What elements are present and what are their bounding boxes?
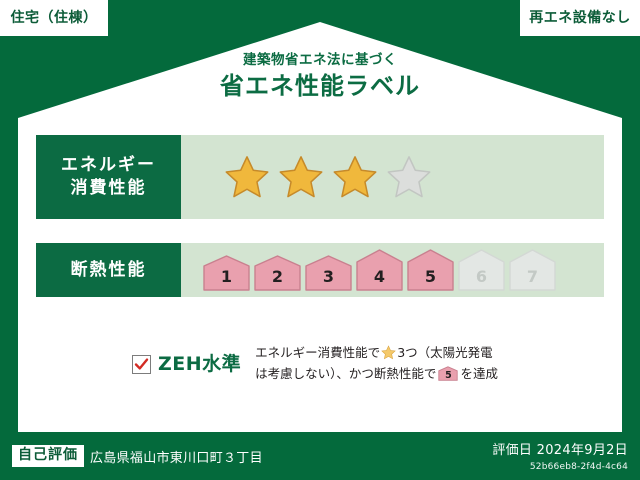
label-id: 52b66eb8-2f4d-4c64 <box>492 462 628 473</box>
insulation-label-text: 断熱性能 <box>71 259 147 282</box>
insulation-grade-number: 6 <box>458 269 505 285</box>
title-subtitle: 建築物省エネ法に基づく <box>0 52 640 68</box>
insulation-performance-value: 1234567 <box>181 243 604 297</box>
zeh-desc-line1a: エネルギー消費性能で <box>255 345 380 360</box>
building-type-tag: 住宅（住棟） <box>0 0 108 36</box>
insulation-grade-badge: 6 <box>458 249 505 291</box>
insulation-grade-number: 1 <box>203 269 250 285</box>
insulation-performance-label: 断熱性能 <box>36 243 181 297</box>
energy-performance-label: 住宅（住棟） 再エネ設備なし 建築物省エネ法に基づく 省エネ性能ラベル エネルギ… <box>0 0 640 480</box>
zeh-checkbox[interactable] <box>132 355 151 374</box>
insulation-grade-number: 3 <box>305 269 352 285</box>
self-evaluation-badge: 自己評価 <box>12 445 84 466</box>
renewable-equipment-tag-label: 再エネ設備なし <box>529 11 631 25</box>
inline-star-icon <box>381 345 396 360</box>
zeh-section: ZEH水準 エネルギー消費性能で 3つ（太陽光発電 は考慮しない）、かつ断熱性能… <box>36 333 604 395</box>
evaluation-date: 評価日 2024年9月2日 <box>492 443 628 458</box>
star-filled-icon <box>331 154 379 200</box>
insulation-grade-number: 5 <box>407 269 454 285</box>
renewable-equipment-tag: 再エネ設備なし <box>520 0 640 36</box>
insulation-grade-badge: 7 <box>509 249 556 291</box>
footer: 自己評価 広島県福山市東川口町３丁目 評価日 2024年9月2日 52b66eb… <box>0 432 640 480</box>
check-icon <box>134 357 149 372</box>
insulation-grade-badge: 2 <box>254 255 301 291</box>
inline-grade-badge: 5 <box>438 366 458 381</box>
star-empty-icon <box>385 154 433 200</box>
zeh-label: ZEH水準 <box>158 355 241 374</box>
energy-performance-row: エネルギー 消費性能 <box>36 135 604 219</box>
address-text: 広島県福山市東川口町３丁目 <box>90 447 492 466</box>
insulation-grade-number: 2 <box>254 269 301 285</box>
energy-performance-value <box>181 135 604 219</box>
star-filled-icon <box>223 154 271 200</box>
star-rating <box>223 154 433 200</box>
footer-right: 評価日 2024年9月2日 52b66eb8-2f4d-4c64 <box>492 439 628 472</box>
insulation-grade-badge: 5 <box>407 249 454 291</box>
zeh-desc-line1b: 3つ（太陽光発電 <box>397 345 492 360</box>
zeh-description: エネルギー消費性能で 3つ（太陽光発電 は考慮しない）、かつ断熱性能で 5 を達… <box>255 343 604 384</box>
page-title: 建築物省エネ法に基づく 省エネ性能ラベル <box>0 52 640 101</box>
title-main: 省エネ性能ラベル <box>0 73 640 101</box>
insulation-grade-list: 1234567 <box>203 249 556 291</box>
insulation-grade-number: 7 <box>509 269 556 285</box>
building-type-tag-label: 住宅（住棟） <box>11 11 98 25</box>
zeh-badge: ZEH水準 <box>132 355 241 374</box>
energy-label-line1: エネルギー <box>61 154 156 177</box>
insulation-grade-badge: 4 <box>356 249 403 291</box>
energy-performance-label: エネルギー 消費性能 <box>36 135 181 219</box>
zeh-desc-line2b: を達成 <box>460 366 498 381</box>
insulation-grade-badge: 1 <box>203 255 250 291</box>
insulation-grade-number: 4 <box>356 269 403 285</box>
zeh-desc-line2a: は考慮しない）、かつ断熱性能で <box>255 366 436 381</box>
insulation-performance-row: 断熱性能 1234567 <box>36 243 604 297</box>
insulation-grade-badge: 3 <box>305 255 352 291</box>
star-filled-icon <box>277 154 325 200</box>
energy-label-line2: 消費性能 <box>71 177 147 200</box>
inline-grade-number: 5 <box>438 371 458 381</box>
